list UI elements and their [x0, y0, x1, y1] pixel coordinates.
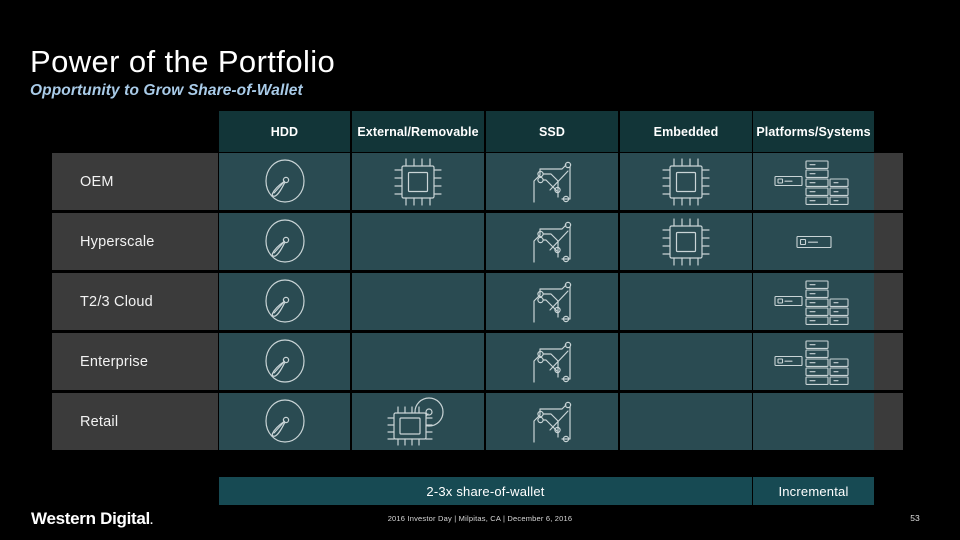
column-header-external: External/Removable [352, 111, 484, 152]
hdd-icon [219, 333, 350, 390]
column-header-line: Platforms/ [756, 125, 818, 139]
page-number: 53 [900, 513, 930, 523]
column-header-embedded: Embedded [620, 111, 752, 152]
matrix-cell-t23cloud-platforms [753, 273, 874, 330]
row-label-t23cloud: T2/3 Cloud [52, 273, 218, 330]
chip-icon [620, 153, 752, 210]
matrix-cell-retail-platforms [753, 393, 874, 450]
matrix-cell-t23cloud-external [352, 273, 484, 330]
column-header-line: External/ [357, 125, 411, 139]
matrix-cell-retail-ssd [486, 393, 618, 450]
row-end-cap-enterprise [874, 333, 903, 390]
column-header-line: Embedded [654, 125, 719, 139]
matrix-cell-hyperscale-external [352, 213, 484, 270]
matrix-cell-enterprise-platforms [753, 333, 874, 390]
matrix-cell-retail-hdd [219, 393, 350, 450]
circuit-icon [486, 333, 618, 390]
column-header-platforms: Platforms/Systems [753, 111, 874, 152]
matrix-cell-oem-platforms [753, 153, 874, 210]
matrix-cell-t23cloud-ssd [486, 273, 618, 330]
matrix-cell-oem-embedded [620, 153, 752, 210]
chip-icon [352, 153, 484, 210]
circuit-icon [486, 213, 618, 270]
matrix-cell-hyperscale-embedded [620, 213, 752, 270]
column-header-hdd: HDD [219, 111, 350, 152]
server-rack-icon [753, 333, 874, 390]
matrix-cell-retail-embedded [620, 393, 752, 450]
matrix-cell-enterprise-ssd [486, 333, 618, 390]
matrix-cell-enterprise-external [352, 333, 484, 390]
slide-footer-text: 2016 Investor Day | Milpitas, CA | Decem… [0, 514, 960, 523]
row-end-cap-hyperscale [874, 213, 903, 270]
matrix-cell-oem-ssd [486, 153, 618, 210]
matrix-cell-hyperscale-platforms [753, 213, 874, 270]
matrix-cell-t23cloud-embedded [620, 273, 752, 330]
column-header-line: SSD [539, 125, 565, 139]
hdd-icon [219, 213, 350, 270]
matrix-cell-oem-hdd [219, 153, 350, 210]
hdd-icon [219, 393, 350, 450]
matrix-cell-enterprise-embedded [620, 333, 752, 390]
row-end-cap-retail [874, 393, 903, 450]
row-end-cap-t23cloud [874, 273, 903, 330]
row-label-retail: Retail [52, 393, 218, 450]
matrix-cell-retail-external [352, 393, 484, 450]
footer-bar-incremental: Incremental [753, 477, 874, 505]
row-label-hyperscale: Hyperscale [52, 213, 218, 270]
server-unit-icon [753, 213, 874, 270]
matrix-cell-enterprise-hdd [219, 333, 350, 390]
footer-bar-share-of-wallet: 2-3x share-of-wallet [219, 477, 752, 505]
circuit-icon [486, 273, 618, 330]
matrix-cell-hyperscale-hdd [219, 213, 350, 270]
hdd-icon [219, 153, 350, 210]
column-header-ssd: SSD [486, 111, 618, 152]
row-label-oem: OEM [52, 153, 218, 210]
hdd-icon [219, 273, 350, 330]
column-header-line: HDD [271, 125, 298, 139]
circuit-icon [486, 153, 618, 210]
server-rack-icon [753, 273, 874, 330]
chip-disc-icon [352, 393, 484, 450]
row-label-enterprise: Enterprise [52, 333, 218, 390]
portfolio-matrix: HDDExternal/RemovableSSDEmbeddedPlatform… [0, 0, 960, 540]
column-header-line: Systems [819, 125, 871, 139]
slide-canvas: Power of the Portfolio Opportunity to Gr… [0, 0, 960, 540]
matrix-cell-t23cloud-hdd [219, 273, 350, 330]
chip-icon [620, 213, 752, 270]
matrix-cell-oem-external [352, 153, 484, 210]
matrix-cell-hyperscale-ssd [486, 213, 618, 270]
column-header-line: Removable [411, 125, 479, 139]
server-rack-icon [753, 153, 874, 210]
circuit-icon [486, 393, 618, 450]
row-end-cap-oem [874, 153, 903, 210]
